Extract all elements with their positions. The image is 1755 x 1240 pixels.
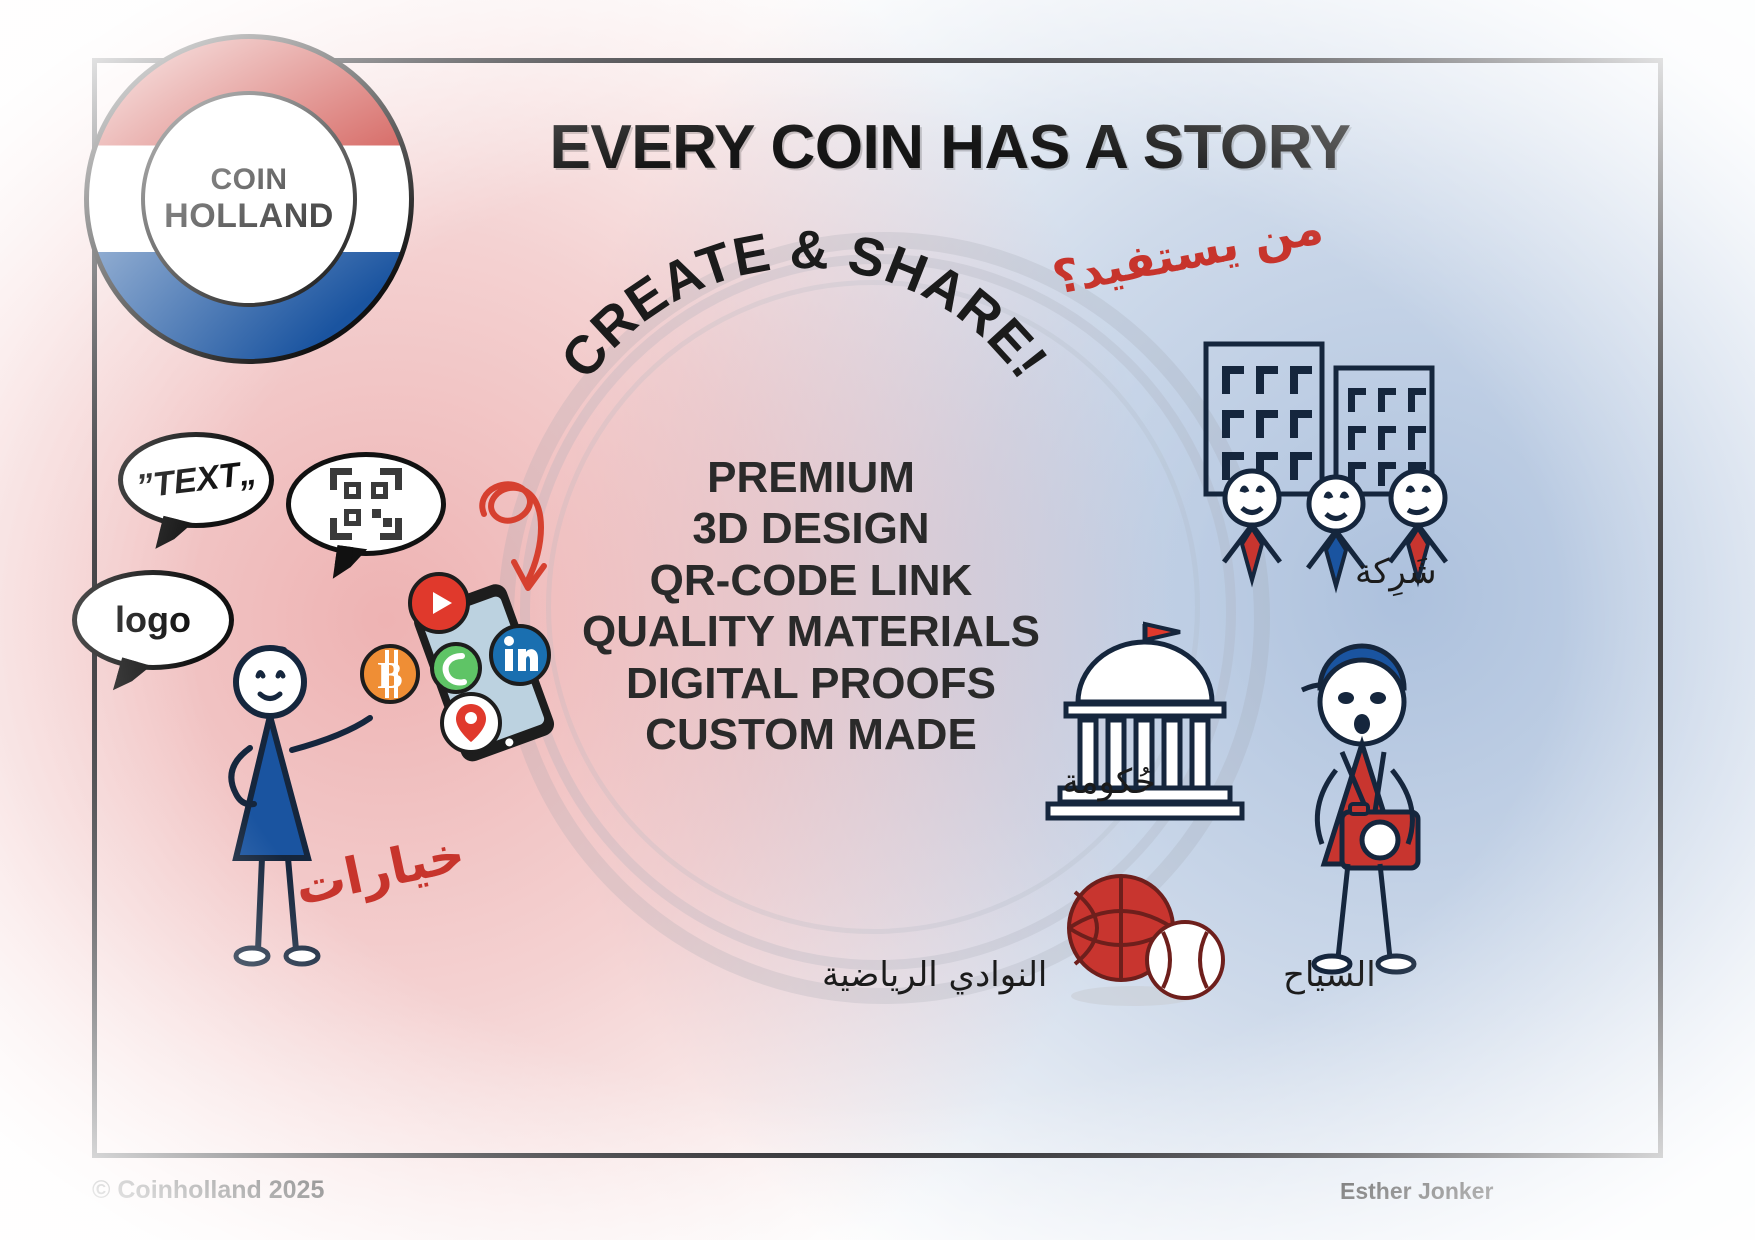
edge-vignette [0,0,1755,1240]
infographic-canvas: EVERY COIN HAS A STORY CREATE & SHARE! C… [0,0,1755,1240]
